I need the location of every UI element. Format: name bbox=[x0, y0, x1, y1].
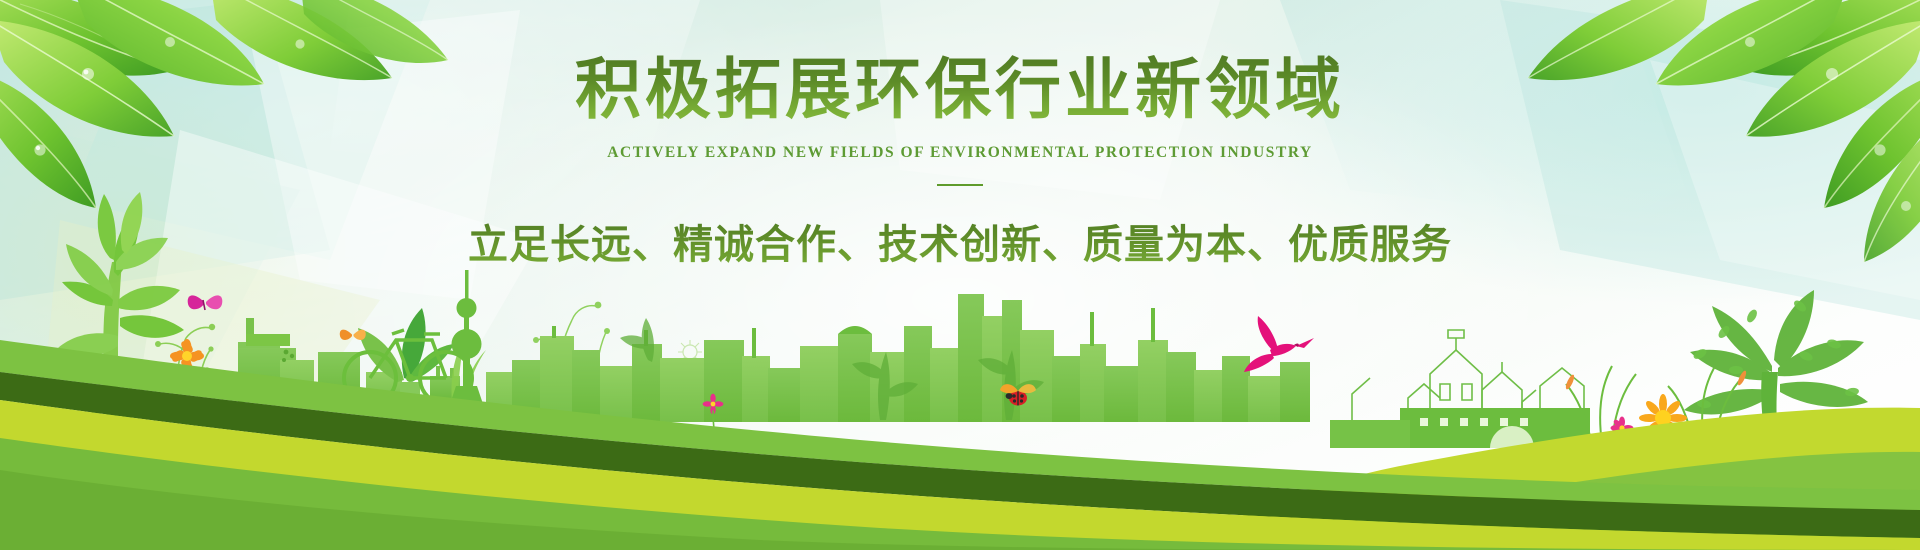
leaf-cluster-icon bbox=[0, 0, 1920, 550]
eco-banner: 积极拓展环保行业新领域 ACTIVELY EXPAND NEW FIELDS O… bbox=[0, 0, 1920, 550]
